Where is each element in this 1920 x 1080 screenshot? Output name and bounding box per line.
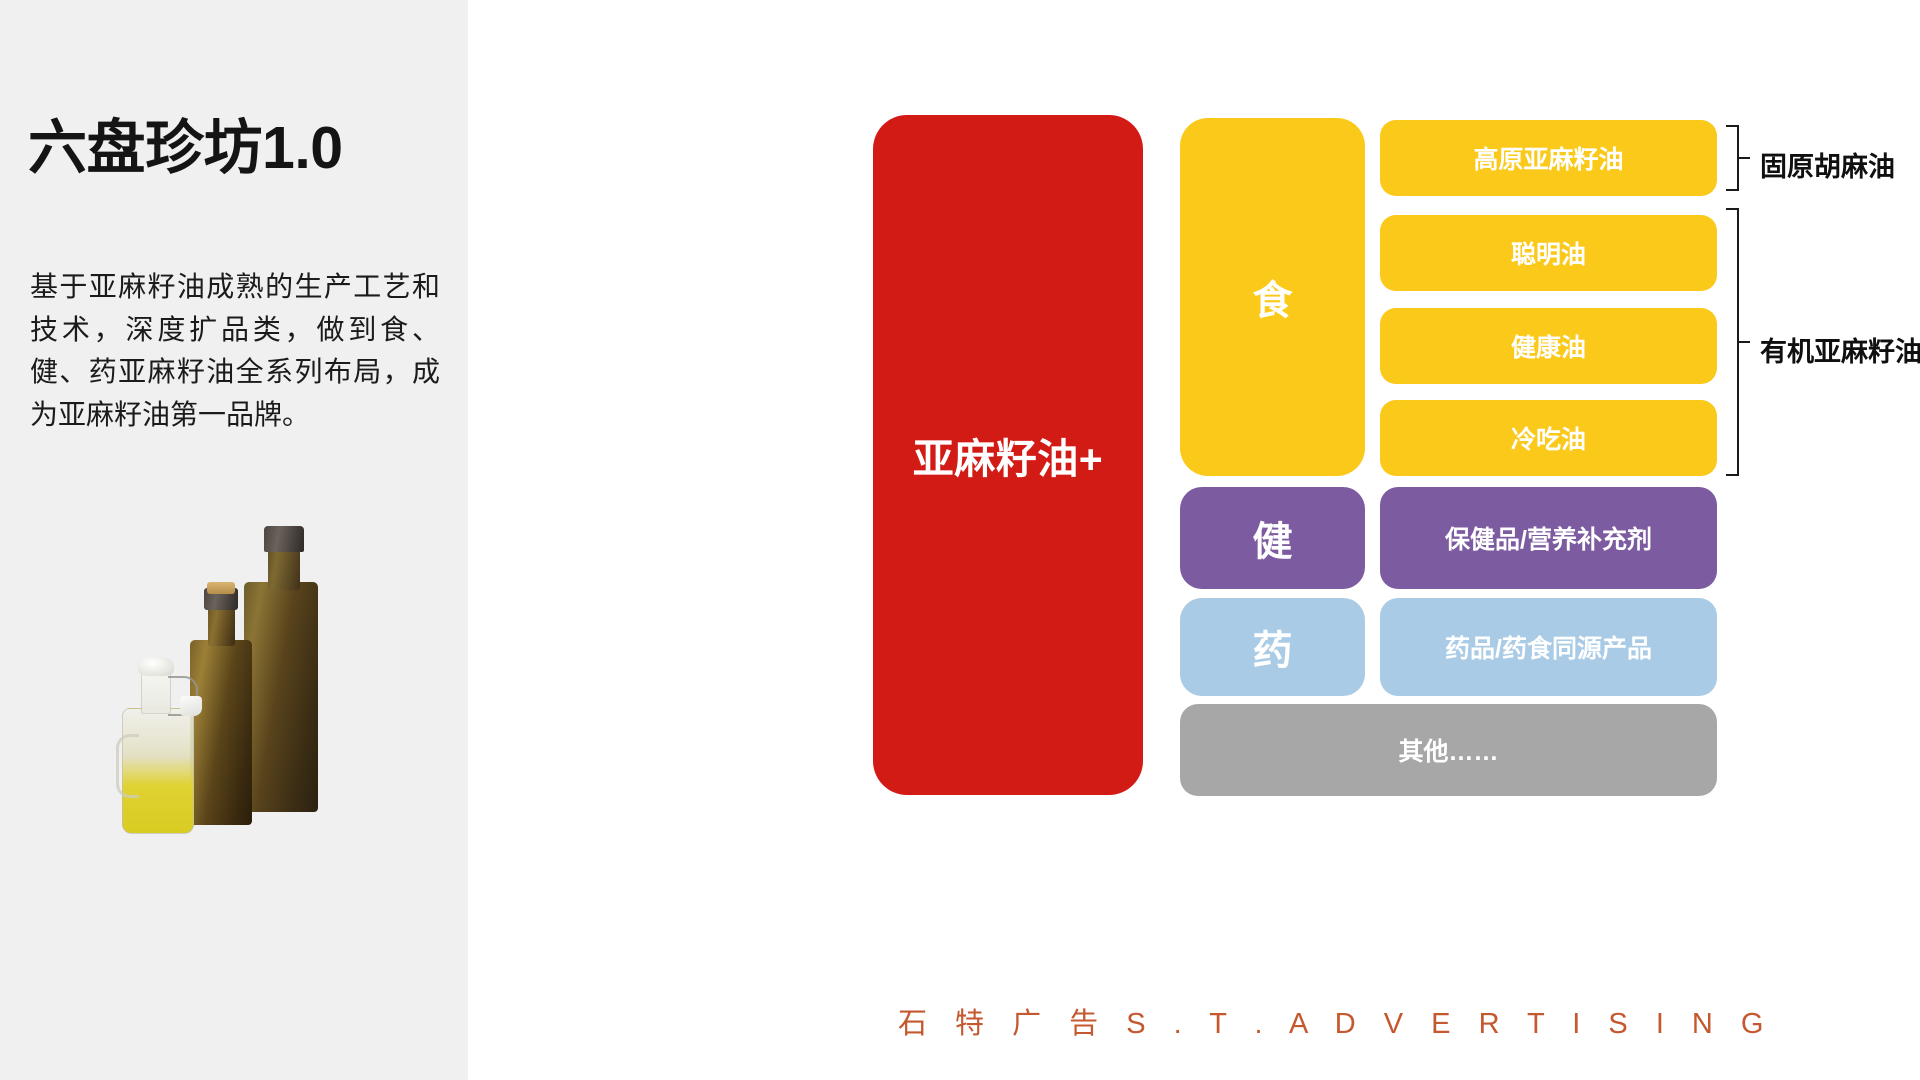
product-node-3: 健康油 (1380, 308, 1717, 384)
tall-bottle-cap (264, 526, 304, 552)
product-node-5: 保健品/营养补充剂 (1380, 487, 1717, 589)
product-node-1: 高原亚麻籽油 (1380, 120, 1717, 196)
category-node-food: 食 (1180, 118, 1365, 476)
category-node-health: 健 (1180, 487, 1365, 589)
bracket-tick-1 (1739, 157, 1750, 159)
product-label-other: 其他…… (1398, 732, 1498, 768)
product-label-6: 药品/药食同源产品 (1445, 629, 1652, 665)
bracket-group-2 (1726, 208, 1739, 476)
bracket-label-1: 固原胡麻油 (1760, 145, 1895, 184)
product-label-3: 健康油 (1511, 328, 1586, 364)
category-node-medicine: 药 (1180, 598, 1365, 696)
product-label-5: 保健品/营养补充剂 (1445, 520, 1652, 556)
diagram-root-label: 亚麻籽油+ (913, 425, 1103, 485)
bracket-tick-2 (1739, 341, 1750, 343)
bracket-label-2: 有机亚麻籽油 (1760, 330, 1920, 369)
product-photo (108, 520, 358, 840)
product-label-4: 冷吃油 (1511, 420, 1586, 456)
slide-root: 六盘珍坊1.0 基于亚麻籽油成熟的生产工艺和技术，深度扩品类，做到食、健、药亚麻… (0, 0, 1920, 1080)
bracket-group-1 (1726, 125, 1739, 191)
tall-bottle-body (244, 582, 318, 812)
page-title: 六盘珍坊1.0 (28, 118, 343, 180)
product-node-4: 冷吃油 (1380, 400, 1717, 476)
product-label-1: 高原亚麻籽油 (1473, 140, 1623, 176)
product-node-other: 其他…… (1180, 704, 1717, 796)
footer-credit: 石 特 广 告 S . T . A D V E R T I S I N G (898, 1000, 1774, 1042)
category-label-medicine: 药 (1253, 618, 1293, 676)
product-label-2: 聪明油 (1511, 235, 1586, 271)
glass-cruet-top (138, 656, 174, 676)
product-node-2: 聪明油 (1380, 215, 1717, 291)
sidebar-description: 基于亚麻籽油成熟的生产工艺和技术，深度扩品类，做到食、健、药亚麻籽油全系列布局，… (30, 266, 440, 436)
glass-cruet-handle (116, 734, 139, 798)
diagram-root-node: 亚麻籽油+ (873, 115, 1143, 795)
medium-bottle-body (190, 640, 252, 825)
product-node-6: 药品/药食同源产品 (1380, 598, 1717, 696)
sidebar: 六盘珍坊1.0 基于亚麻籽油成熟的生产工艺和技术，深度扩品类，做到食、健、药亚麻… (0, 0, 468, 1080)
category-label-health: 健 (1253, 509, 1293, 567)
medium-bottle-cork (207, 582, 235, 594)
glass-cruet-stopper (180, 696, 202, 716)
category-label-food: 食 (1253, 268, 1293, 326)
diagram-panel: 亚麻籽油+ 食 健 药 高原亚麻籽油 聪明油 健康油 冷吃油 保健品/营养补充剂… (468, 0, 1920, 1080)
